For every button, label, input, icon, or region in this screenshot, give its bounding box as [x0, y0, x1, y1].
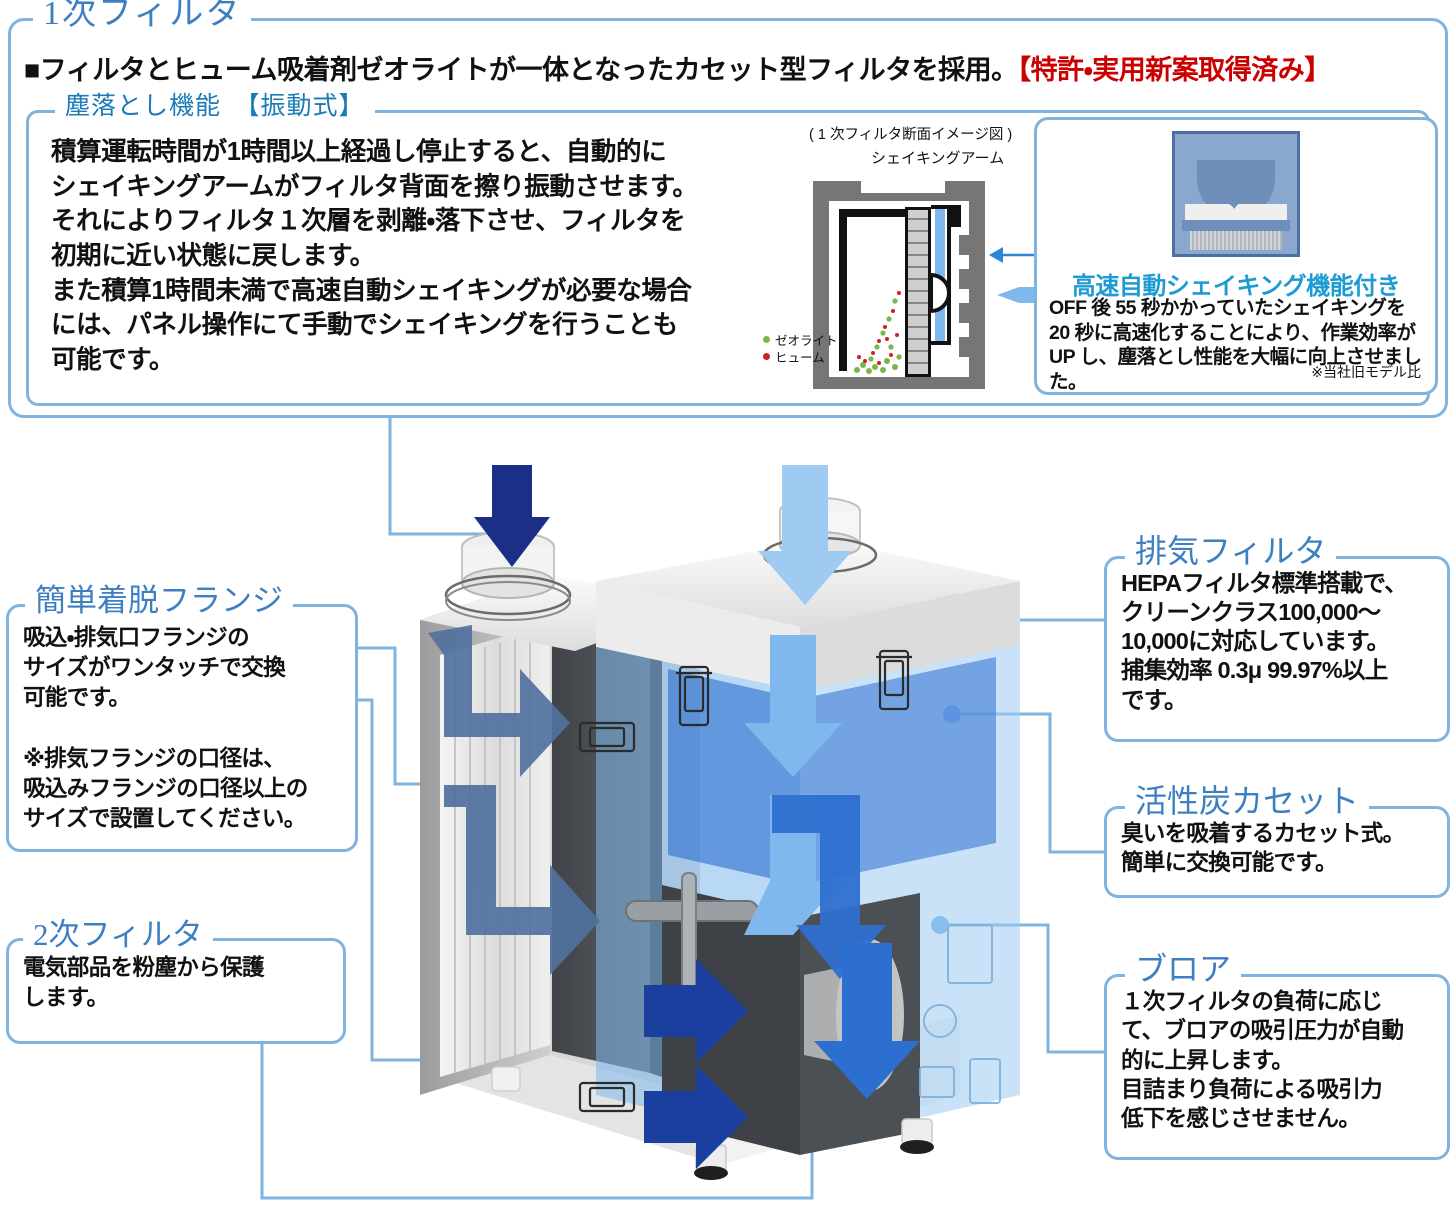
- callout-blower-title: ブロア: [1125, 953, 1241, 985]
- callout-blower-body: １次フィルタの負荷に応じ て、ブロアの吸引圧力が自動 的に上昇します。 目詰まり…: [1121, 987, 1439, 1133]
- callout-flange-title: 簡単着脱フランジ: [25, 585, 293, 616]
- callout-carbon-cassette: 活性炭カセット 臭いを吸着するカセット式。 簡単に交換可能です。: [1104, 806, 1450, 898]
- dust-removal-title: 塵落とし機能 【振動式】: [55, 94, 375, 119]
- photo-fins-shape: [1190, 231, 1283, 250]
- shaking-card-note: ※当社旧モデル比: [1311, 362, 1421, 382]
- primary-filter-headline: ■フィルタとヒューム吸着剤ゼオライトが一体となったカセット型フィルタを採用。【特…: [24, 48, 1434, 87]
- callout-exhaust-filter: 排気フィルタ HEPAフィルタ標準搭載で、 クリーンクラス100,000～ 10…: [1104, 556, 1450, 742]
- primary-filter-title: 1次フィルタ: [33, 0, 251, 31]
- product-cutaway-illustration: [400, 455, 1040, 1195]
- callout-secondary-filter-title: 2次フィルタ: [23, 919, 213, 950]
- photo-bar-shape: [1182, 220, 1289, 231]
- callout-carbon-cassette-title: 活性炭カセット: [1125, 785, 1369, 817]
- legend-fume: ヒューム: [763, 350, 838, 367]
- headline-main-text: ■フィルタとヒューム吸着剤ゼオライトが一体となったカセット型フィルタを採用。: [24, 55, 1018, 85]
- dust-removal-body: 積算運転時間が1時間以上経過し停止すると、自動的に シェイキングアームがフィルタ…: [51, 135, 751, 378]
- callout-secondary-filter: 2次フィルタ 電気部品を粉塵から保護 します。: [6, 938, 346, 1044]
- cross-section-legend: ゼオライト ヒューム: [763, 333, 838, 367]
- high-speed-shaking-card: 高速自動シェイキング機能付き OFF 後 55 秒かかっていたシェイキングを 2…: [1034, 117, 1438, 395]
- patent-badge-text: 【特許・実用新案取得済み】: [1018, 55, 1331, 85]
- shaking-mechanism-photo: [1172, 131, 1300, 257]
- callout-flange-body: 吸込・排気口フランジの サイズがワンタッチで交換 可能です。 ※排気フランジの口…: [23, 623, 345, 834]
- infographic-page: 1次フィルタ ■フィルタとヒューム吸着剤ゼオライトが一体となったカセット型フィル…: [0, 0, 1456, 1210]
- callout-exhaust-filter-title: 排気フィルタ: [1125, 535, 1336, 567]
- zeolite-swatch-icon: [763, 336, 770, 343]
- callout-flange: 簡単着脱フランジ 吸込・排気口フランジの サイズがワンタッチで交換 可能です。 …: [6, 604, 358, 852]
- shaking-arm-label: シェイキングアーム: [871, 147, 1004, 168]
- callout-exhaust-filter-body: HEPAフィルタ標準搭載で、 クリーンクラス100,000～ 10,000に対応…: [1121, 569, 1439, 715]
- callout-blower: ブロア １次フィルタの負荷に応じ て、ブロアの吸引圧力が自動 的に上昇します。 …: [1104, 974, 1450, 1160]
- cross-section-caption: ( 1 次フィルタ断面イメージ図 ): [809, 123, 1012, 144]
- fume-swatch-icon: [763, 353, 770, 360]
- callout-secondary-filter-body: 電気部品を粉塵から保護 します。: [23, 953, 333, 1012]
- legend-zeolite: ゼオライト: [763, 333, 838, 350]
- callout-carbon-cassette-body: 臭いを吸着するカセット式。 簡単に交換可能です。: [1121, 819, 1439, 878]
